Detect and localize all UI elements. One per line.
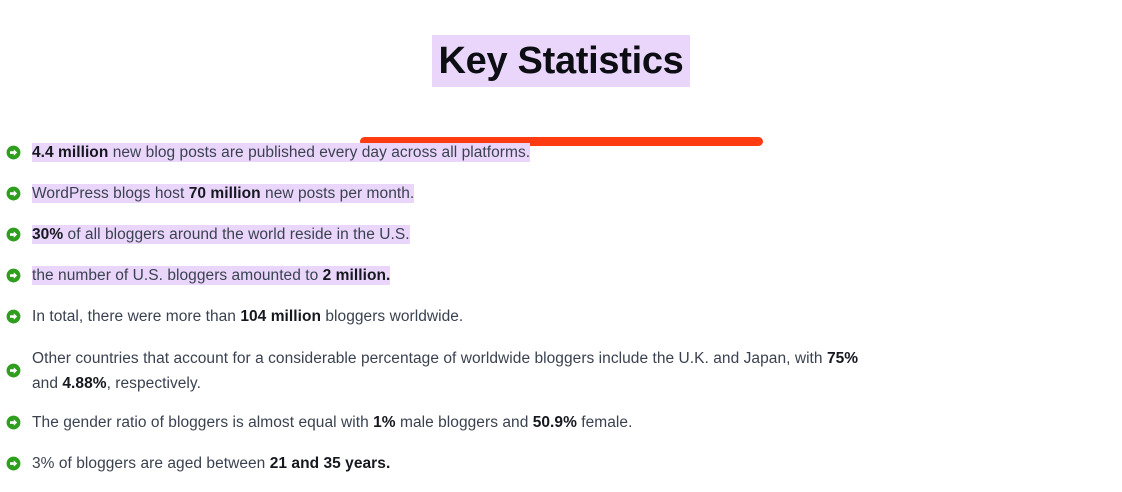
list-item: 4.4 million new blog posts are published… (0, 140, 1122, 165)
body-text: The gender ratio of bloggers is almost e… (32, 414, 373, 431)
emphasis-text: 21 and 35 years. (270, 455, 391, 472)
key-statistics-page: Key Statistics 4.4 million new blog post… (0, 0, 1122, 466)
list-item-text: WordPress blogs host 70 million new post… (32, 181, 414, 206)
emphasis-text: 1% (373, 414, 396, 431)
list-item: WordPress blogs host 70 million new post… (0, 181, 1122, 206)
list-item: 3% of bloggers are aged between 21 and 3… (0, 451, 1122, 476)
body-text: the number of U.S. bloggers amounted to (32, 267, 323, 284)
list-item: 30% of all bloggers around the world res… (0, 222, 1122, 247)
emphasis-text: 75% (827, 350, 858, 367)
body-text: and (32, 375, 62, 392)
circle-arrow-right-icon (6, 415, 21, 430)
emphasis-text: 50.9% (533, 414, 577, 431)
body-text: new blog posts are published every day a… (108, 144, 530, 161)
page-title: Key Statistics (432, 35, 689, 87)
list-item: the number of U.S. bloggers amounted to … (0, 263, 1122, 288)
statistics-list: 4.4 million new blog posts are published… (0, 140, 1122, 492)
list-item-text: 30% of all bloggers around the world res… (32, 222, 410, 247)
body-text: WordPress blogs host (32, 185, 189, 202)
list-item-text: 3% of bloggers are aged between 21 and 3… (32, 451, 390, 476)
circle-arrow-right-icon (6, 268, 21, 283)
list-item: The gender ratio of bloggers is almost e… (0, 410, 1122, 435)
list-item: Other countries that account for a consi… (0, 346, 1122, 396)
emphasis-text: 2 million. (323, 267, 391, 284)
body-text: 3% of bloggers are aged between (32, 455, 270, 472)
page-title-container: Key Statistics (0, 0, 1122, 113)
list-item-text: 4.4 million new blog posts are published… (32, 140, 530, 165)
list-item-text: Other countries that account for a consi… (32, 346, 858, 396)
list-item: In total, there were more than 104 milli… (0, 304, 1122, 329)
list-item-text: The gender ratio of bloggers is almost e… (32, 410, 632, 435)
body-text: Other countries that account for a consi… (32, 350, 827, 367)
list-item-text: the number of U.S. bloggers amounted to … (32, 263, 390, 288)
emphasis-text: 70 million (189, 185, 261, 202)
emphasis-text: 4.88% (62, 375, 106, 392)
emphasis-text: 104 million (240, 308, 321, 325)
circle-arrow-right-icon (6, 227, 21, 242)
body-text: new posts per month. (261, 185, 415, 202)
body-text: male bloggers and (396, 414, 533, 431)
body-text: In total, there were more than (32, 308, 240, 325)
circle-arrow-right-icon (6, 186, 21, 201)
circle-arrow-right-icon (6, 145, 21, 160)
body-text: bloggers worldwide. (321, 308, 463, 325)
circle-arrow-right-icon (6, 456, 21, 471)
emphasis-text: 30% (32, 226, 63, 243)
body-text: female. (577, 414, 633, 431)
body-text: of all bloggers around the world reside … (63, 226, 409, 243)
circle-arrow-right-icon (6, 309, 21, 324)
emphasis-text: 4.4 million (32, 144, 108, 161)
circle-arrow-right-icon (6, 363, 21, 378)
list-item-text: In total, there were more than 104 milli… (32, 304, 463, 329)
body-text: , respectively. (107, 375, 201, 392)
